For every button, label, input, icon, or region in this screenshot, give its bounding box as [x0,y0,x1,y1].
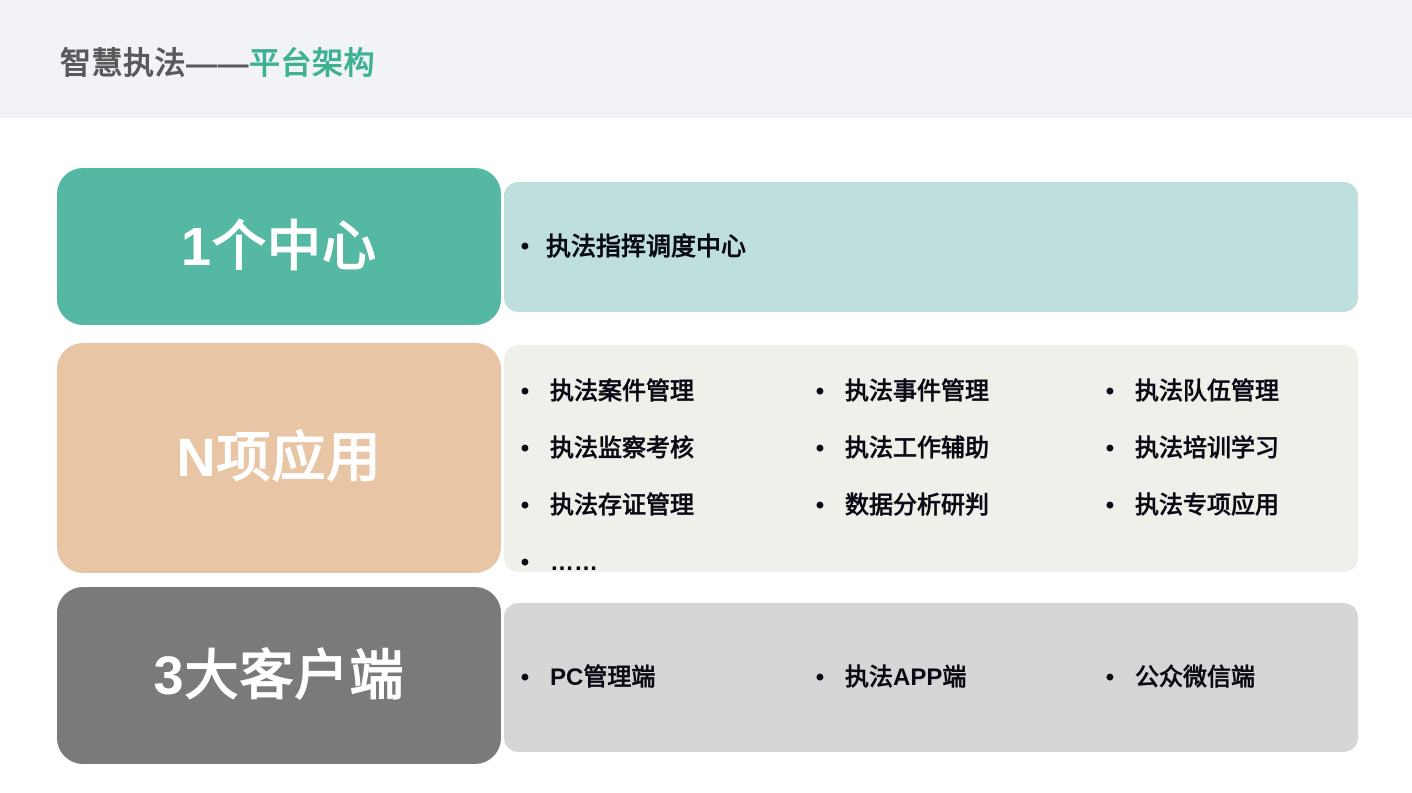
bullet-icon: • [514,380,536,404]
bullet-icon: • [514,551,536,575]
list-item[interactable]: • PC管理端 [514,666,809,690]
bullet-icon: • [514,437,536,461]
row-center-label: 1个中心 [181,220,377,274]
list-item[interactable]: • 执法案件管理 [514,363,809,420]
list-item-label: 执法培训学习 [1121,437,1279,461]
bullet-icon: • [514,494,536,518]
list-item-label: 执法专项应用 [1121,494,1279,518]
row-clients: 3大客户端 • PC管理端 • 执法APP端 • 公众微信端 [0,587,1412,764]
list-item[interactable]: • 数据分析研判 [809,477,1099,534]
list-item[interactable]: • 执法事件管理 [809,363,1099,420]
bullet-icon: • [1099,666,1121,690]
list-item[interactable]: • 执法培训学习 [1099,420,1368,477]
row-applications-label-card[interactable]: N项应用 [57,343,501,573]
list-item[interactable]: • 执法APP端 [809,666,1099,690]
list-item[interactable]: • 执法工作辅助 [809,420,1099,477]
row-clients-panel: • PC管理端 • 执法APP端 • 公众微信端 [504,603,1358,752]
header-band: 智慧执法——平台架构 [0,0,1412,118]
list-item-label: 执法队伍管理 [1121,380,1279,404]
list-item[interactable]: • 执法专项应用 [1099,477,1368,534]
list-item-label: …… [536,551,598,575]
list-item[interactable]: • 执法指挥调度中心 [514,235,1358,260]
row-applications: N项应用 • 执法案件管理 • 执法事件管理 • 执法队伍管理 [0,343,1412,573]
row-center-label-card[interactable]: 1个中心 [57,168,501,325]
row-clients-label-card[interactable]: 3大客户端 [57,587,501,764]
list-item-label: 执法工作辅助 [831,437,989,461]
list-item[interactable]: • 公众微信端 [1099,666,1368,690]
row-center-bullet-grid: • 执法指挥调度中心 [504,182,1358,312]
bullet-icon: • [809,494,831,518]
list-item-label: 执法事件管理 [831,380,989,404]
page-title-main: 智慧执法—— [60,46,249,81]
row-center-panel: • 执法指挥调度中心 [504,182,1358,312]
bullet-icon: • [514,666,536,690]
bullet-icon: • [514,235,536,259]
architecture-rows: 1个中心 • 执法指挥调度中心 N项应用 • 执法案 [0,118,1412,793]
bullet-icon: • [1099,494,1121,518]
row-clients-label: 3大客户端 [153,649,404,703]
bullet-icon: • [809,380,831,404]
list-item-label: 执法指挥调度中心 [536,235,746,260]
row-applications-bullet-grid: • 执法案件管理 • 执法事件管理 • 执法队伍管理 • 执法监察考核 [504,345,1358,572]
list-item-label: 执法监察考核 [536,437,694,461]
list-item-label: 执法案件管理 [536,380,694,404]
list-item[interactable]: • 执法队伍管理 [1099,363,1368,420]
list-item-label: 执法APP端 [831,666,966,690]
list-item-label: 公众微信端 [1121,666,1255,690]
bullet-icon: • [809,437,831,461]
row-clients-bullet-grid: • PC管理端 • 执法APP端 • 公众微信端 [504,603,1358,752]
list-item-label: 执法存证管理 [536,494,694,518]
bullet-icon: • [809,666,831,690]
list-item-label: 数据分析研判 [831,494,989,518]
list-item[interactable]: • 执法存证管理 [514,477,809,534]
page-title-accent: 平台架构 [249,46,375,81]
row-applications-label: N项应用 [177,431,382,485]
row-applications-panel: • 执法案件管理 • 执法事件管理 • 执法队伍管理 • 执法监察考核 [504,345,1358,572]
bullet-icon: • [1099,437,1121,461]
row-center: 1个中心 • 执法指挥调度中心 [0,168,1412,325]
slide-canvas: 智慧执法——平台架构 1个中心 • 执法指挥调度中心 N项应用 [0,0,1412,793]
page-title: 智慧执法——平台架构 [60,38,375,83]
list-item[interactable]: • 执法监察考核 [514,420,809,477]
list-item[interactable]: • …… [514,534,809,591]
bullet-icon: • [1099,380,1121,404]
list-item-label: PC管理端 [536,666,655,690]
